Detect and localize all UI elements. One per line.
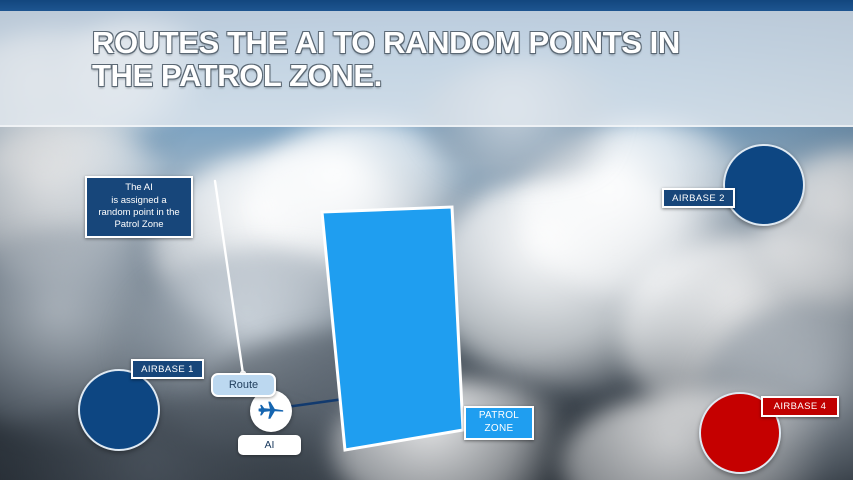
callout-box[interactable]: The AI is assigned a random point in the… — [85, 176, 193, 238]
patrol-zone-shape[interactable] — [322, 207, 463, 450]
route-label-text: Route — [229, 379, 258, 391]
airbase-1-marker[interactable] — [78, 369, 160, 451]
slide-canvas: ROUTES THE AI TO RANDOM POINTS IN THE PA… — [0, 0, 853, 480]
fighter-jet-icon — [256, 396, 286, 426]
airbase-1-label[interactable]: AIRBASE 1 — [131, 359, 204, 379]
route-label[interactable]: Route — [211, 373, 276, 397]
callout-text: The AI is assigned a random point in the… — [98, 182, 179, 232]
patrol-zone-label-text: PATROL ZONE — [479, 410, 519, 435]
airbase-1-label-text: AIRBASE 1 — [141, 364, 194, 375]
ai-label-text: AI — [265, 439, 275, 451]
airbase-2-marker[interactable] — [723, 144, 805, 226]
airbase-2-label[interactable]: AIRBASE 2 — [662, 188, 735, 208]
airbase-4-label-text: AIRBASE 4 — [774, 401, 827, 412]
airbase-2-label-text: AIRBASE 2 — [672, 193, 725, 204]
patrol-zone-label[interactable]: PATROL ZONE — [464, 406, 534, 440]
airbase-4-label[interactable]: AIRBASE 4 — [761, 396, 839, 417]
ai-label[interactable]: AI — [238, 435, 301, 455]
